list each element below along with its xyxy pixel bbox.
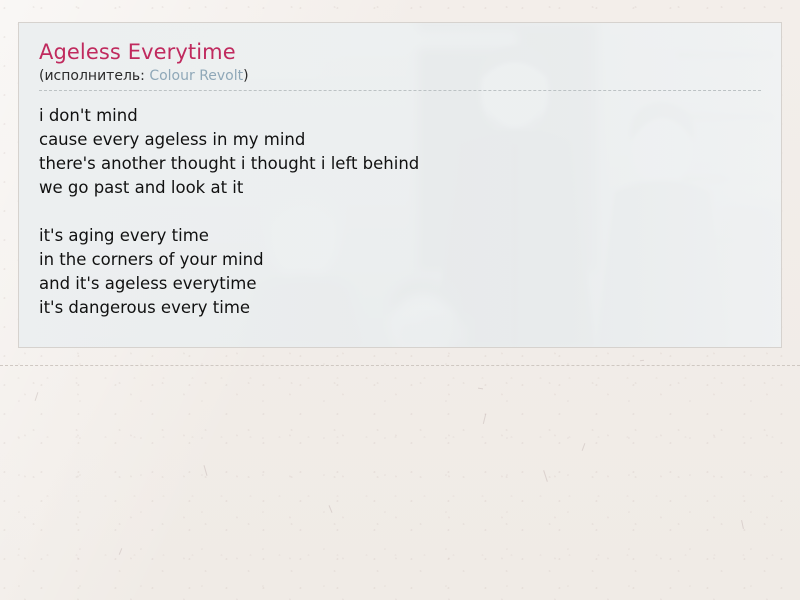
artist-link[interactable]: Colour Revolt [149, 68, 243, 84]
lyric-line: it's aging every time [39, 224, 761, 248]
lyric-line: cause every ageless in my mind [39, 128, 761, 152]
song-title: Ageless Everytime [39, 39, 761, 65]
song-card: Ageless Everytime (исполнитель: Colour R… [18, 22, 782, 348]
page-divider-rule [0, 365, 800, 366]
lyric-line: there's another thought i thought i left… [39, 152, 761, 176]
lyric-line-blank [39, 200, 761, 224]
lyric-line: it's dangerous every time [39, 296, 761, 320]
lyric-line: in the corners of your mind [39, 248, 761, 272]
lyrics-body: i don't mindcause every ageless in my mi… [39, 91, 761, 320]
card-content: Ageless Everytime (исполнитель: Colour R… [19, 23, 781, 320]
artist-prefix-text: (исполнитель: [39, 68, 149, 84]
artist-suffix-text: ) [243, 68, 248, 84]
lyric-line: we go past and look at it [39, 176, 761, 200]
lyric-line: and it's ageless everytime [39, 272, 761, 296]
song-artist-line: (исполнитель: Colour Revolt) [39, 67, 761, 85]
lyric-line: i don't mind [39, 104, 761, 128]
